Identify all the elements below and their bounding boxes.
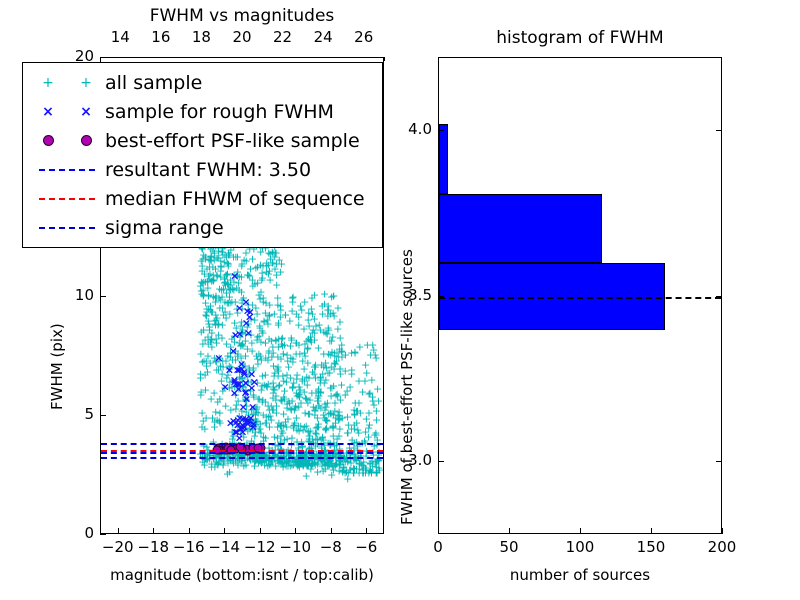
all-sample-point: + [353,425,362,436]
all-sample-point: + [207,458,216,469]
all-sample-point: + [209,276,218,287]
all-sample-point: + [361,462,370,473]
all-sample-point: + [248,409,257,420]
all-sample-point: + [336,364,345,375]
all-sample-point: + [254,330,263,341]
all-sample-point: + [268,257,277,268]
all-sample-point: + [267,415,276,426]
all-sample-point: + [307,335,316,346]
all-sample-point: + [237,405,246,416]
all-sample-point: + [251,404,260,415]
rough-sample-point: × [240,368,249,379]
all-sample-point: + [302,335,311,346]
all-sample-point: + [206,301,215,312]
all-sample-point: + [333,391,342,402]
all-sample-point: + [227,333,236,344]
all-sample-point: + [245,418,254,429]
rough-sample-point: × [237,423,246,434]
all-sample-point: + [219,309,228,320]
all-sample-point: + [241,396,250,407]
all-sample-point: + [313,458,322,469]
all-sample-point: + [231,252,240,263]
all-sample-point: + [266,459,275,470]
all-sample-point: + [224,250,233,261]
all-sample-point: + [242,407,251,418]
all-sample-point: + [278,459,287,470]
all-sample-point: + [288,382,297,393]
all-sample-point: + [323,328,332,339]
all-sample-point: + [330,406,339,417]
rough-sample-point: × [229,415,238,426]
all-sample-point: + [217,247,226,258]
legend: ++all sample××sample for rough FWHMbest-… [22,62,383,248]
all-sample-point: + [324,325,333,336]
all-sample-point: + [211,296,220,307]
all-sample-point: + [292,337,301,348]
all-sample-point: + [242,255,251,266]
all-sample-point: + [258,396,267,407]
all-sample-point: + [296,458,305,469]
all-sample-point: + [204,318,213,329]
rough-sample-point: × [239,367,248,378]
all-sample-point: + [329,380,338,391]
bottom-tick-mark [118,528,119,534]
all-sample-point: + [256,423,265,434]
all-sample-point: + [351,455,360,466]
all-sample-point: + [325,367,334,378]
all-sample-point: + [251,263,260,274]
all-sample-point: + [314,401,323,412]
all-sample-point: + [289,292,298,303]
histogram-x-tick-mark [509,528,510,534]
all-sample-point: + [196,387,205,398]
all-sample-point: + [321,414,330,425]
all-sample-point: + [346,465,355,476]
all-sample-point: + [294,454,303,465]
all-sample-point: + [327,390,336,401]
all-sample-point: + [324,458,333,469]
all-sample-point: + [349,467,358,478]
all-sample-point: + [350,424,359,435]
all-sample-point: + [372,461,381,472]
all-sample-point: + [241,329,250,340]
all-sample-point: + [372,415,381,426]
all-sample-point: + [265,333,274,344]
all-sample-point: + [310,405,319,416]
bottom-tick-label: −12 [242,538,278,556]
left-panel-y-axis-label: FWHM (pix) [48,323,66,410]
all-sample-point: + [228,355,237,366]
all-sample-point: + [200,460,209,471]
all-sample-point: + [303,426,312,437]
all-sample-point: + [303,344,312,355]
all-sample-point: + [351,347,360,358]
all-sample-point: + [300,348,309,359]
all-sample-point: + [309,401,318,412]
all-sample-point: + [245,423,254,434]
all-sample-point: + [261,369,270,380]
rough-sample-point: × [231,378,240,389]
all-sample-point: + [197,256,206,267]
all-sample-point: + [271,248,280,259]
all-sample-point: + [347,348,356,359]
all-sample-point: + [225,360,234,371]
all-sample-point: + [265,299,274,310]
all-sample-point: + [254,424,263,435]
all-sample-point: + [281,310,290,321]
all-sample-point: + [211,356,220,367]
all-sample-point: + [313,392,322,403]
all-sample-point: + [371,430,380,441]
all-sample-point: + [288,296,297,307]
all-sample-point: + [238,380,247,391]
all-sample-point: + [332,355,341,366]
all-sample-point: + [220,278,229,289]
all-sample-point: + [245,270,254,281]
all-sample-point: + [239,254,248,265]
all-sample-point: + [204,316,213,327]
all-sample-point: + [232,399,241,410]
all-sample-point: + [267,454,276,465]
all-sample-point: + [238,325,247,336]
all-sample-point: + [246,415,255,426]
all-sample-point: + [303,342,312,353]
all-sample-point: + [316,378,325,389]
left-y-tick-mark [100,534,106,535]
all-sample-point: + [314,421,323,432]
all-sample-point: + [365,388,374,399]
all-sample-point: + [316,375,325,386]
all-sample-point: + [307,304,316,315]
all-sample-point: + [253,308,262,319]
all-sample-point: + [371,427,380,438]
all-sample-point: + [304,333,313,344]
all-sample-point: + [274,334,283,345]
rough-sample-point: × [232,416,241,427]
all-sample-point: + [319,410,328,421]
all-sample-point: + [239,431,248,442]
all-sample-point: + [290,419,299,430]
all-sample-point: + [202,455,211,466]
all-sample-point: + [296,300,305,311]
all-sample-point: + [224,247,233,258]
all-sample-point: + [344,419,353,430]
all-sample-point: + [196,368,205,379]
all-sample-point: + [329,423,338,434]
all-sample-point: + [218,320,227,331]
all-sample-point: + [322,363,331,374]
all-sample-point: + [200,370,209,381]
all-sample-point: + [319,327,328,338]
all-sample-point: + [253,278,262,289]
all-sample-point: + [253,261,262,272]
all-sample-point: + [209,269,218,280]
all-sample-point: + [290,418,299,429]
all-sample-point: + [292,436,301,447]
all-sample-point: + [210,462,219,473]
all-sample-point: + [311,402,320,413]
all-sample-point: + [211,292,220,303]
top-tick-label: 22 [271,28,295,46]
all-sample-point: + [324,459,333,470]
all-sample-point: + [204,304,213,315]
all-sample-point: + [276,421,285,432]
all-sample-point: + [206,334,215,345]
all-sample-point: + [311,362,320,373]
all-sample-point: + [333,410,342,421]
all-sample-point: + [300,376,309,387]
all-sample-point: + [252,335,261,346]
top-tick-label: 16 [149,28,173,46]
all-sample-point: + [237,372,246,383]
rough-sample-point: × [239,402,248,413]
all-sample-point: + [300,458,309,469]
all-sample-point: + [292,424,301,435]
bottom-tick-label: −14 [206,538,242,556]
all-sample-point: + [206,250,215,261]
all-sample-point: + [214,458,223,469]
all-sample-point: + [290,404,299,415]
all-sample-point: + [316,387,325,398]
all-sample-point: + [264,260,273,271]
all-sample-point: + [255,322,264,333]
all-sample-point: + [276,267,285,278]
all-sample-point: + [219,362,228,373]
all-sample-point: + [241,422,250,433]
all-sample-point: + [373,384,382,395]
all-sample-point: + [207,275,216,286]
all-sample-point: + [272,258,281,269]
all-sample-point: + [313,412,322,423]
all-sample-point: + [364,388,373,399]
all-sample-point: + [324,301,333,312]
all-sample-point: + [350,409,359,420]
all-sample-point: + [307,388,316,399]
bottom-tick-mark [331,528,332,534]
all-sample-point: + [326,407,335,418]
all-sample-point: + [310,314,319,325]
all-sample-point: + [208,261,217,272]
all-sample-point: + [221,270,230,281]
all-sample-point: + [262,417,271,428]
all-sample-point: + [261,417,270,428]
all-sample-point: + [314,343,323,354]
all-sample-point: + [237,287,246,298]
all-sample-point: + [211,320,220,331]
all-sample-point: + [330,348,339,359]
all-sample-point: + [283,399,292,410]
all-sample-point: + [217,262,226,273]
all-sample-point: + [202,303,211,314]
all-sample-point: + [372,352,381,363]
all-sample-point: + [226,274,235,285]
all-sample-point: + [281,310,290,321]
all-sample-point: + [307,292,316,303]
all-sample-point: + [235,372,244,383]
all-sample-point: + [329,290,338,301]
all-sample-point: + [230,330,239,341]
rough-sample-point: × [241,377,250,388]
all-sample-point: + [304,460,313,471]
all-sample-point: + [261,307,270,318]
plus-icon: + [80,76,92,90]
all-sample-point: + [271,248,280,259]
all-sample-point: + [282,460,291,471]
all-sample-point: + [227,427,236,438]
all-sample-point: + [299,324,308,335]
all-sample-point: + [265,421,274,432]
all-sample-point: + [304,427,313,438]
all-sample-point: + [222,288,231,299]
all-sample-point: + [220,383,229,394]
all-sample-point: + [239,293,248,304]
all-sample-point: + [199,250,208,261]
all-sample-point: + [279,376,288,387]
all-sample-point: + [345,465,354,476]
all-sample-point: + [300,339,309,350]
all-sample-point: + [304,436,313,447]
all-sample-point: + [292,412,301,423]
circle-icon [43,135,54,146]
all-sample-point: + [232,283,241,294]
all-sample-point: + [372,466,381,477]
legend-key [29,155,105,184]
rough-sample-point: × [241,297,250,308]
all-sample-point: + [197,276,206,287]
all-sample-point: + [362,465,371,476]
all-sample-point: + [262,380,271,391]
all-sample-point: + [263,460,272,471]
all-sample-point: + [311,320,320,331]
all-sample-point: + [354,397,363,408]
all-sample-point: + [224,298,233,309]
left-y-tick-mark [100,296,106,297]
all-sample-point: + [274,318,283,329]
all-sample-point: + [212,356,221,367]
cross-icon: × [42,105,54,119]
all-sample-point: + [231,404,240,415]
all-sample-point: + [361,426,370,437]
all-sample-point: + [288,356,297,367]
all-sample-point: + [320,289,329,300]
all-sample-point: + [265,405,274,416]
all-sample-point: + [310,361,319,372]
rough-sample-point: × [235,432,244,443]
all-sample-point: + [219,459,228,470]
all-sample-point: + [250,431,259,442]
all-sample-point: + [236,429,245,440]
all-sample-point: + [317,360,326,371]
histogram-x-tick-label: 0 [416,538,460,556]
all-sample-point: + [231,355,240,366]
rough-sample-point: × [235,303,244,314]
all-sample-point: + [323,416,332,427]
all-sample-point: + [305,431,314,442]
all-sample-point: + [335,459,344,470]
all-sample-point: + [269,387,278,398]
all-sample-point: + [256,337,265,348]
all-sample-point: + [198,253,207,264]
all-sample-point: + [248,254,257,265]
all-sample-point: + [210,316,219,327]
all-sample-point: + [217,332,226,343]
all-sample-point: + [366,458,375,469]
all-sample-point: + [308,309,317,320]
rough-sample-point: × [240,422,249,433]
all-sample-point: + [357,460,366,471]
rough-sample-point: × [246,412,255,423]
rough-sample-point: × [226,417,235,428]
legend-item: ++all sample [29,68,374,97]
rough-sample-point: × [231,329,240,340]
all-sample-point: + [310,409,319,420]
all-sample-point: + [304,459,313,470]
all-sample-point: + [322,422,331,433]
all-sample-point: + [273,293,282,304]
all-sample-point: + [273,351,282,362]
all-sample-point: + [318,465,327,476]
all-sample-point: + [223,370,232,381]
all-sample-point: + [237,271,246,282]
all-sample-point: + [354,428,363,439]
all-sample-point: + [260,380,269,391]
all-sample-point: + [328,421,337,432]
all-sample-point: + [211,319,220,330]
all-sample-point: + [209,274,218,285]
all-sample-point: + [224,248,233,259]
histogram-x-tick-label: 150 [629,538,673,556]
all-sample-point: + [212,269,221,280]
all-sample-point: + [278,332,287,343]
all-sample-point: + [294,390,303,401]
all-sample-point: + [262,258,271,269]
all-sample-point: + [199,324,208,335]
all-sample-point: + [212,312,221,323]
all-sample-point: + [320,298,329,309]
all-sample-point: + [326,309,335,320]
all-sample-point: + [201,254,210,265]
all-sample-point: + [235,337,244,348]
all-sample-point: + [262,266,271,277]
all-sample-point: + [275,380,284,391]
all-sample-point: + [206,255,215,266]
all-sample-point: + [327,362,336,373]
all-sample-point: + [324,305,333,316]
rough-sample-point: × [214,353,223,364]
all-sample-point: + [358,387,367,398]
all-sample-point: + [237,327,246,338]
all-sample-point: + [289,378,298,389]
all-sample-point: + [203,454,212,465]
all-sample-point: + [236,340,245,351]
rough-sample-point: × [242,416,251,427]
all-sample-point: + [308,367,317,378]
all-sample-point: + [323,397,332,408]
all-sample-point: + [256,260,265,271]
all-sample-point: + [302,470,311,481]
all-sample-point: + [279,421,288,432]
legend-item-label: best-effort PSF-like sample [105,130,360,152]
all-sample-point: + [223,469,232,480]
all-sample-point: + [335,364,344,375]
all-sample-point: + [265,459,274,470]
all-sample-point: + [279,349,288,360]
all-sample-point: + [272,407,281,418]
all-sample-point: + [214,293,223,304]
all-sample-point: + [278,462,287,473]
all-sample-point: + [202,306,211,317]
all-sample-point: + [203,331,212,342]
